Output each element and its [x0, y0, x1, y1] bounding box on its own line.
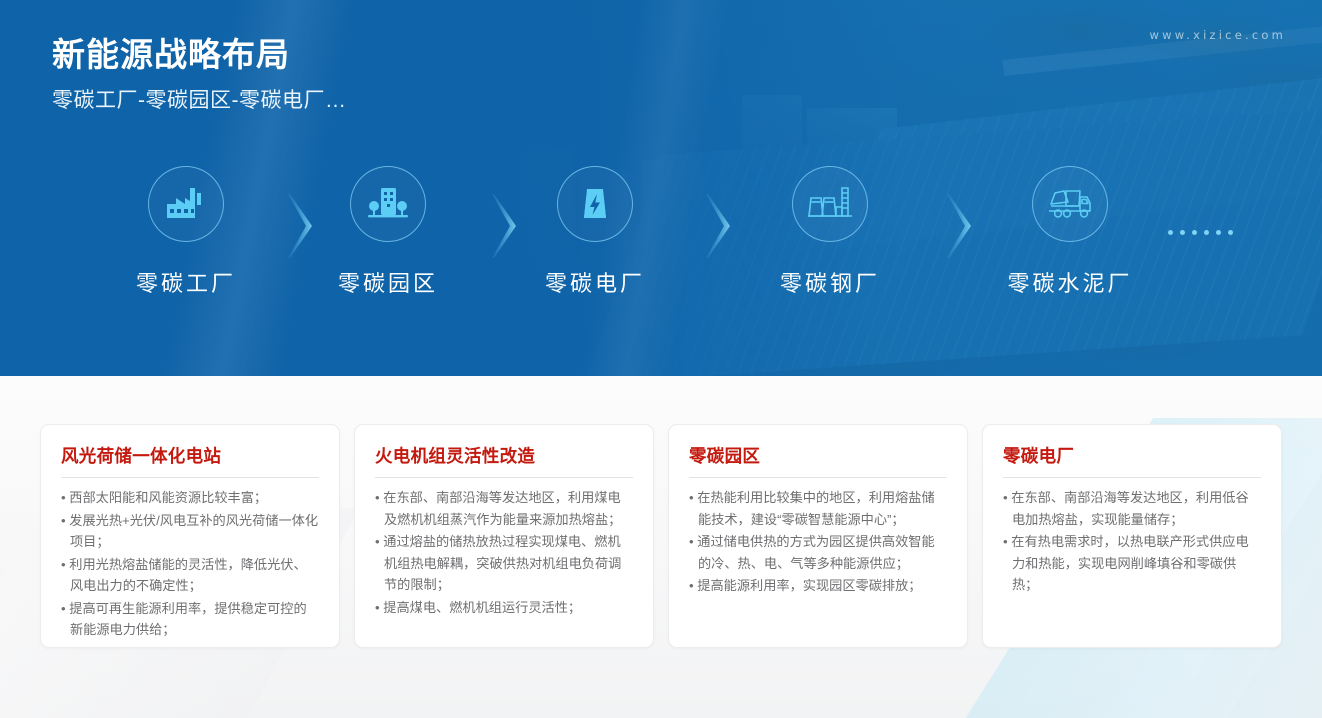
list-item: • 在东部、南部沿海等发达地区，利用低谷电加热熔盐，实现能量储存； [1003, 487, 1261, 530]
list-item: • 提高煤电、燃机机组运行灵活性； [375, 597, 633, 619]
step-label: 零碳电厂 [515, 266, 675, 298]
card-bullet-list: • 在热能利用比较集中的地区，利用熔盐储能技术，建设“零碳智慧能源中心”； • … [689, 487, 947, 597]
list-item: • 西部太阳能和风能资源比较丰富； [61, 487, 319, 509]
cement-mixer-truck-icon [1046, 184, 1094, 224]
list-item: • 提高能源利用率，实现园区零碳排放； [689, 575, 947, 597]
flow-step-zero-carbon-steel-plant[interactable]: 零碳钢厂 [750, 166, 910, 298]
flow-step-zero-carbon-power-plant[interactable]: 零碳电厂 [515, 166, 675, 298]
info-card-zero-carbon-power-plant[interactable]: 零碳电厂 • 在东部、南部沿海等发达地区，利用低谷电加热熔盐，实现能量储存； •… [982, 424, 1282, 648]
info-card-zero-carbon-park[interactable]: 零碳园区 • 在热能利用比较集中的地区，利用熔盐储能技术，建设“零碳智慧能源中心… [668, 424, 968, 648]
card-title: 零碳电厂 [1003, 443, 1261, 477]
flow-step-zero-carbon-park[interactable]: 零碳园区 [308, 166, 468, 298]
dot [1180, 230, 1185, 235]
card-divider [61, 477, 319, 478]
step-label: 零碳水泥厂 [990, 266, 1150, 298]
page-title: 新能源战略布局 [52, 28, 290, 76]
flow-diagram: 零碳工厂 [0, 166, 1322, 316]
card-title: 风光荷储一体化电站 [61, 443, 319, 477]
card-divider [375, 477, 633, 478]
card-bullet-list: • 西部太阳能和风能资源比较丰富； • 发展光热+光伏/风电互补的风光荷储一体化… [61, 487, 319, 641]
card-title: 火电机组灵活性改造 [375, 443, 633, 477]
office-park-icon [366, 184, 410, 224]
step-icon-circle [148, 166, 224, 242]
card-title: 零碳园区 [689, 443, 947, 477]
power-plant-bolt-icon [573, 184, 617, 224]
info-card-thermal-flexibility[interactable]: 火电机组灵活性改造 • 在东部、南部沿海等发达地区，利用煤电及燃机机组蒸汽作为能… [354, 424, 654, 648]
factory-icon [164, 184, 208, 224]
card-bullet-list: • 在东部、南部沿海等发达地区，利用煤电及燃机机组蒸汽作为能量来源加热熔盐； •… [375, 487, 633, 618]
steel-plant-icon [807, 183, 853, 225]
dot [1204, 230, 1209, 235]
flow-trailing-dots [1168, 230, 1233, 235]
dot [1168, 230, 1173, 235]
list-item: • 在热能利用比较集中的地区，利用熔盐储能技术，建设“零碳智慧能源中心”； [689, 487, 947, 530]
step-label: 零碳工厂 [106, 266, 266, 298]
list-item: • 在有热电需求时，以热电联产形式供应电力和热能，实现电网削峰填谷和零碳供热； [1003, 531, 1261, 596]
step-icon-circle [557, 166, 633, 242]
dot [1192, 230, 1197, 235]
site-watermark: www.xizice.com [1150, 28, 1286, 42]
flow-arrow-4 [947, 194, 981, 258]
info-card-row: 风光荷储一体化电站 • 西部太阳能和风能资源比较丰富； • 发展光热+光伏/风电… [0, 424, 1322, 648]
card-bullet-list: • 在东部、南部沿海等发达地区，利用低谷电加热熔盐，实现能量储存； • 在有热电… [1003, 487, 1261, 596]
card-divider [689, 477, 947, 478]
hero-banner: www.xizice.com 新能源战略布局 零碳工厂-零碳园区-零碳电厂… 零… [0, 0, 1322, 376]
list-item: • 在东部、南部沿海等发达地区，利用煤电及燃机机组蒸汽作为能量来源加热熔盐； [375, 487, 633, 530]
step-icon-circle [1032, 166, 1108, 242]
list-item: • 提高可再生能源利用率，提供稳定可控的新能源电力供给； [61, 598, 319, 641]
list-item: • 利用光热熔盐储能的灵活性，降低光伏、风电出力的不确定性； [61, 554, 319, 597]
card-divider [1003, 477, 1261, 478]
dot [1216, 230, 1221, 235]
step-label: 零碳钢厂 [750, 266, 910, 298]
step-icon-circle [792, 166, 868, 242]
step-icon-circle [350, 166, 426, 242]
flow-step-zero-carbon-factory[interactable]: 零碳工厂 [106, 166, 266, 298]
flow-arrow-3 [706, 194, 740, 258]
step-label: 零碳园区 [308, 266, 468, 298]
dot [1228, 230, 1233, 235]
chevron-right-icon [947, 194, 981, 258]
chevron-right-icon [706, 194, 740, 258]
info-card-wind-solar-storage[interactable]: 风光荷储一体化电站 • 西部太阳能和风能资源比较丰富； • 发展光热+光伏/风电… [40, 424, 340, 648]
list-item: • 通过熔盐的储热放热过程实现煤电、燃机机组热电解耦，突破供热对机组电负荷调节的… [375, 531, 633, 596]
list-item: • 通过储电供热的方式为园区提供高效智能的冷、热、电、气等多种能源供应； [689, 531, 947, 574]
page-subtitle: 零碳工厂-零碳园区-零碳电厂… [52, 84, 347, 114]
flow-step-zero-carbon-cement-plant[interactable]: 零碳水泥厂 [990, 166, 1150, 298]
list-item: • 发展光热+光伏/风电互补的风光荷储一体化项目； [61, 510, 319, 553]
